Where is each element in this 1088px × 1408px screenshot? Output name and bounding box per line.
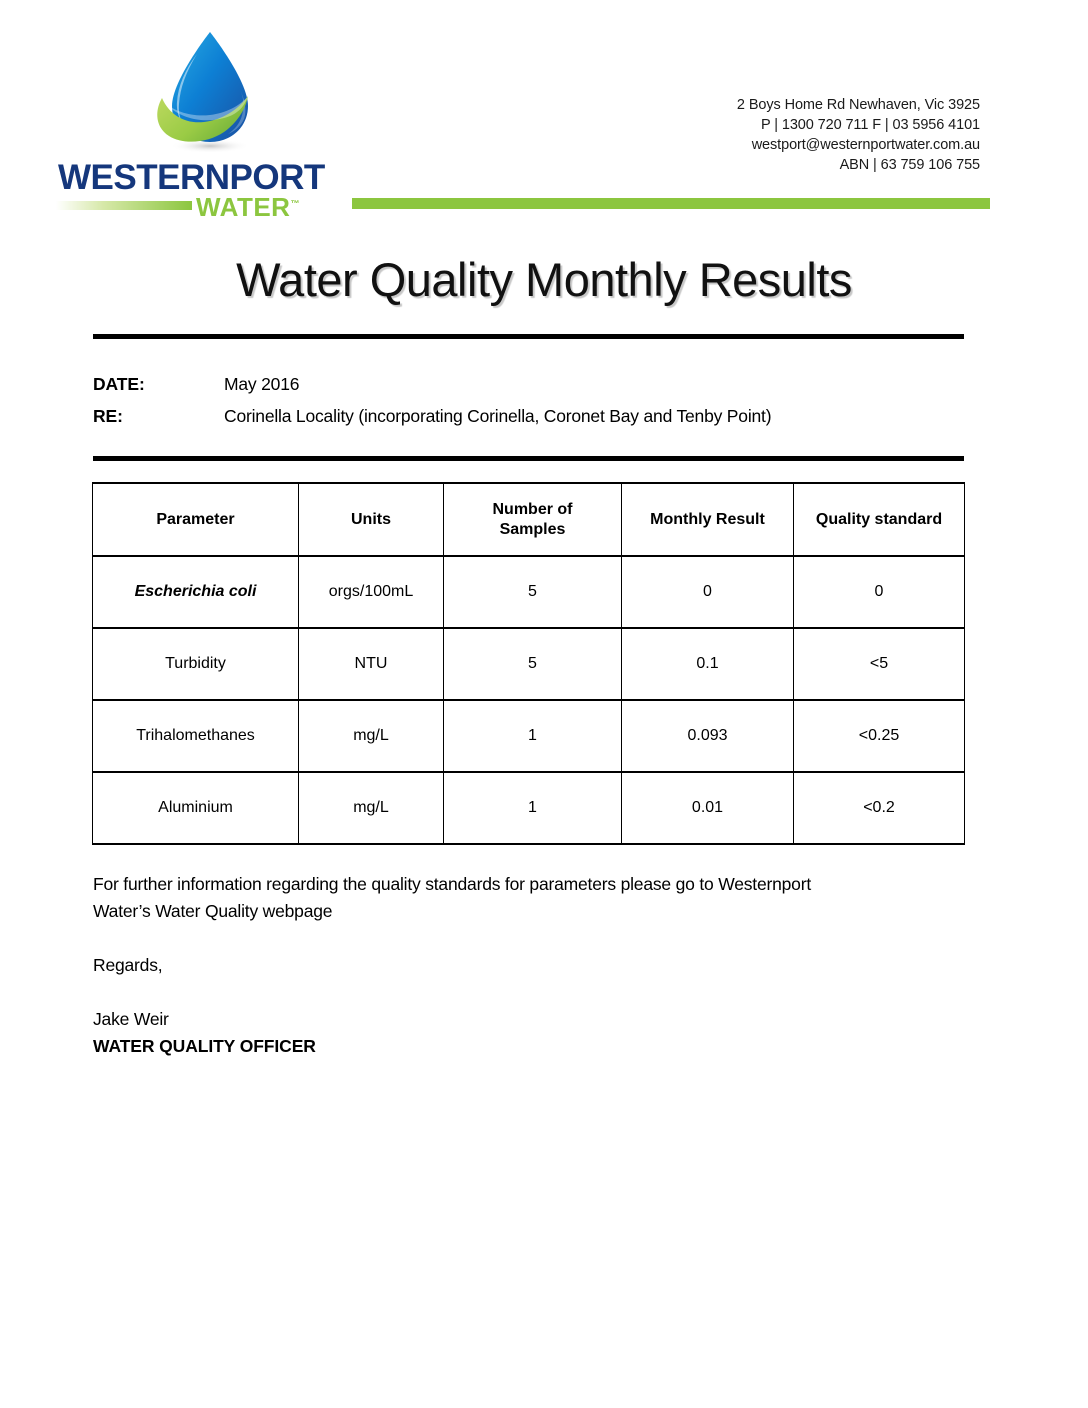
meta-row-date: DATE: May 2016 <box>93 372 973 396</box>
contact-block: 2 Boys Home Rd Newhaven, Vic 3925 P | 13… <box>737 95 980 175</box>
meta-rule-bottom <box>93 456 964 461</box>
water-quality-results-table: Parameter Units Number of Samples Monthl… <box>92 482 965 845</box>
samples-header-line1: Number of <box>493 501 573 518</box>
cell-quality-standard: <0.25 <box>794 700 965 772</box>
contact-phone-fax: P | 1300 720 711 F | 03 5956 4101 <box>737 115 980 135</box>
cell-monthly-result: 0.093 <box>622 700 794 772</box>
cell-units: orgs/100mL <box>299 556 444 628</box>
page-header: WESTERNPORT WATER™ 2 Boys Home Rd Newhav… <box>0 0 1088 225</box>
brand-gradient-bar-left <box>56 201 192 210</box>
cell-monthly-result: 0.01 <box>622 772 794 844</box>
meta-row-re: RE: Corinella Locality (incorporating Co… <box>93 404 973 428</box>
cell-quality-standard: <5 <box>794 628 965 700</box>
info-line-1: For further information regarding the qu… <box>93 871 963 898</box>
column-header-number-of-samples: Number of Samples <box>444 483 622 556</box>
parameter-name-italic: Escherichia coli <box>135 583 257 600</box>
contact-abn: ABN | 63 759 106 755 <box>737 155 980 175</box>
contact-address: 2 Boys Home Rd Newhaven, Vic 3925 <box>737 95 980 115</box>
cell-parameter: Trihalomethanes <box>93 700 299 772</box>
table-header-row: Parameter Units Number of Samples Monthl… <box>93 483 965 556</box>
document-page: WESTERNPORT WATER™ 2 Boys Home Rd Newhav… <box>0 0 1088 1408</box>
table-row: Aluminium mg/L 1 0.01 <0.2 <box>93 772 965 844</box>
cell-parameter: Escherichia coli <box>93 556 299 628</box>
table-row: Escherichia coli orgs/100mL 5 0 0 <box>93 556 965 628</box>
contact-email: westport@westernportwater.com.au <box>737 135 980 155</box>
table-row: Turbidity NTU 5 0.1 <5 <box>93 628 965 700</box>
brand-name-westernport: WESTERNPORT <box>58 160 325 195</box>
footer-text-block: For further information regarding the qu… <box>93 871 963 1060</box>
column-header-parameter: Parameter <box>93 483 299 556</box>
cell-units: mg/L <box>299 772 444 844</box>
table-head: Parameter Units Number of Samples Monthl… <box>93 483 965 556</box>
samples-header-line2: Samples <box>500 521 566 538</box>
column-header-units: Units <box>299 483 444 556</box>
column-header-quality-standard: Quality standard <box>794 483 965 556</box>
cell-units: NTU <box>299 628 444 700</box>
cell-quality-standard: <0.2 <box>794 772 965 844</box>
meta-block: DATE: May 2016 RE: Corinella Locality (i… <box>93 372 973 436</box>
brand-name-water: WATER™ <box>196 194 300 220</box>
cell-parameter: Turbidity <box>93 628 299 700</box>
cell-samples: 1 <box>444 700 622 772</box>
cell-quality-standard: 0 <box>794 556 965 628</box>
cell-samples: 5 <box>444 556 622 628</box>
page-title: Water Quality Monthly Results <box>0 252 1088 307</box>
cell-monthly-result: 0 <box>622 556 794 628</box>
signer-role: WATER QUALITY OFFICER <box>93 1033 963 1060</box>
regards-line: Regards, <box>93 952 963 979</box>
date-label: DATE: <box>93 372 224 396</box>
cell-units: mg/L <box>299 700 444 772</box>
re-label: RE: <box>93 404 224 428</box>
brand-water-text: WATER <box>196 192 290 222</box>
re-value: Corinella Locality (incorporating Corine… <box>224 404 771 428</box>
westernport-water-droplet-leaf-logo-icon <box>152 26 268 158</box>
cell-samples: 5 <box>444 628 622 700</box>
info-line-2: Water’s Water Quality webpage <box>93 898 963 925</box>
spacer <box>93 925 963 952</box>
spacer <box>93 979 963 1006</box>
brand-green-divider-bar <box>352 198 990 209</box>
table-body: Escherichia coli orgs/100mL 5 0 0 Turbid… <box>93 556 965 844</box>
column-header-monthly-result: Monthly Result <box>622 483 794 556</box>
cell-monthly-result: 0.1 <box>622 628 794 700</box>
date-value: May 2016 <box>224 372 299 396</box>
cell-parameter: Aluminium <box>93 772 299 844</box>
meta-rule-top <box>93 334 964 339</box>
trademark-symbol: ™ <box>290 198 300 208</box>
table-row: Trihalomethanes mg/L 1 0.093 <0.25 <box>93 700 965 772</box>
cell-samples: 1 <box>444 772 622 844</box>
signer-name: Jake Weir <box>93 1006 963 1033</box>
